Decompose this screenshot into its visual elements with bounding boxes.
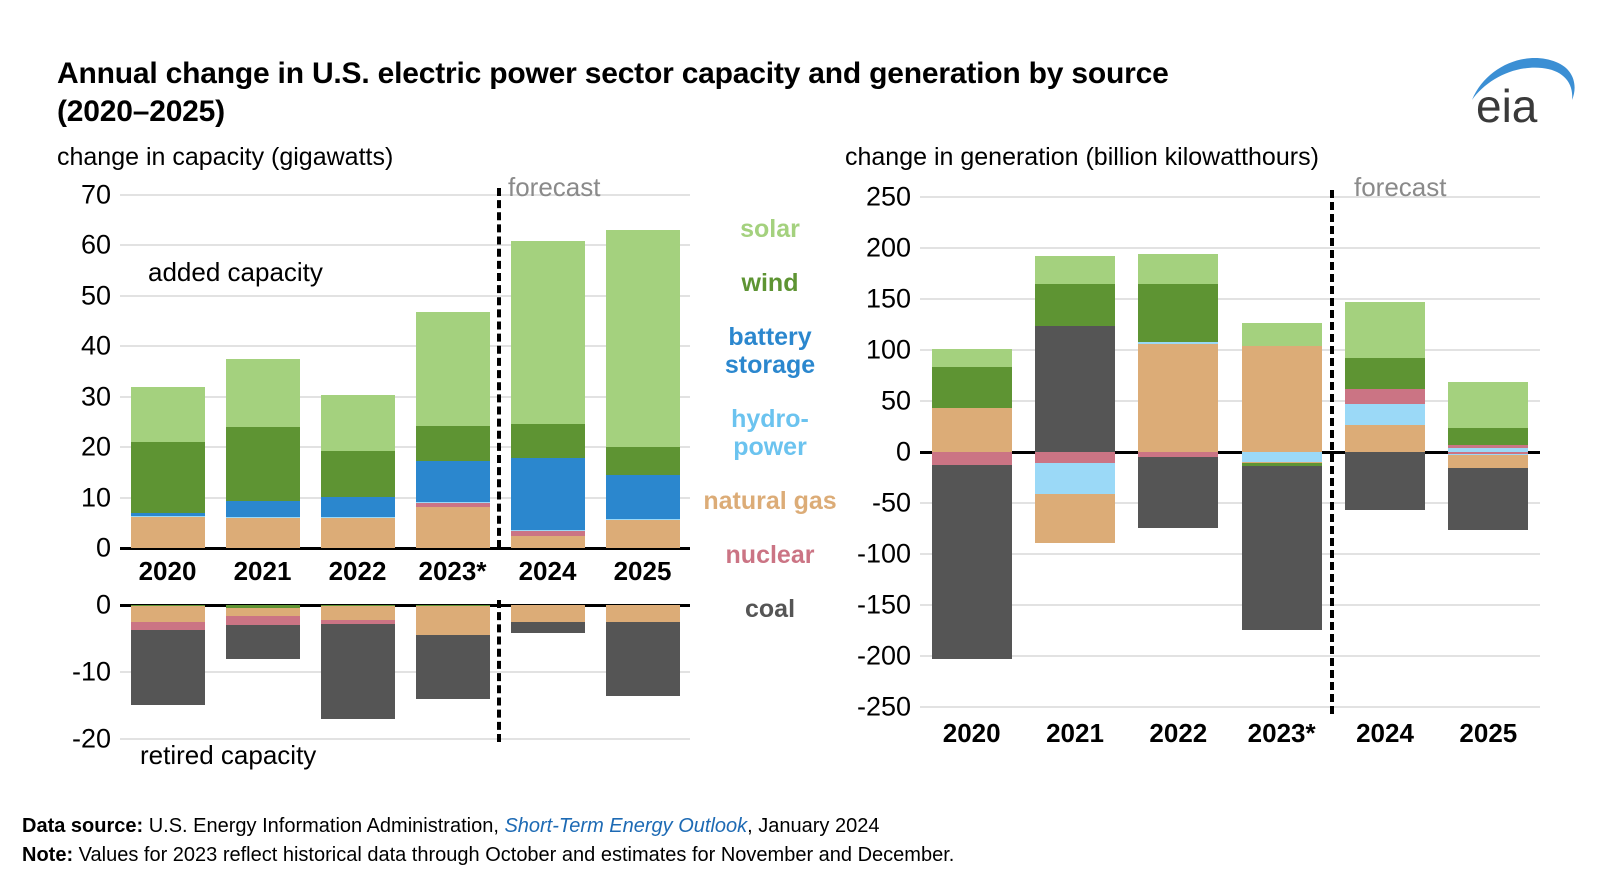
y-axis-tick-label: 0 <box>96 590 111 621</box>
footer-note-line: Note: Values for 2023 reflect historical… <box>22 841 1562 870</box>
y-axis-tick-label: -50 <box>872 488 911 519</box>
bar-segment-wind <box>511 424 585 458</box>
generation-bar-negative[interactable] <box>1138 452 1218 529</box>
generation-bar-positive[interactable] <box>1345 292 1425 452</box>
x-axis-tick-label: 2022 <box>313 556 403 587</box>
capacity-positive-plot: 706050403020100 <box>120 195 690 548</box>
generation-bar-positive[interactable] <box>1035 256 1115 452</box>
gridline <box>120 345 690 347</box>
bar-segment-coal <box>511 622 585 633</box>
bar-segment-wind <box>131 442 205 514</box>
y-axis-tick-label: 10 <box>81 482 111 513</box>
footer-source-tail: , January 2024 <box>747 815 879 837</box>
bar-segment-natural-gas <box>1448 455 1528 468</box>
footer: Data source: U.S. Energy Information Adm… <box>22 812 1562 870</box>
bar-segment-wind <box>606 447 680 476</box>
bar-segment-natural-gas <box>1345 425 1425 452</box>
footer-source-text: U.S. Energy Information Administration, <box>143 815 504 837</box>
bar-segment-hydropower <box>131 516 205 517</box>
y-axis-tick-label: -150 <box>857 590 911 621</box>
x-axis-tick-label: 2020 <box>123 556 213 587</box>
generation-zero-line <box>920 451 1540 454</box>
x-axis-tick-label: 2020 <box>922 718 1022 749</box>
generation-axis-title: change in generation (billion kilowattho… <box>845 143 1319 172</box>
y-axis-tick-label: -100 <box>857 539 911 570</box>
x-axis-tick-label: 2021 <box>218 556 308 587</box>
bar-segment-hydropower <box>226 517 300 518</box>
bar-segment-wind <box>1345 358 1425 389</box>
bar-segment-natural-gas <box>606 520 680 548</box>
svg-text:eia: eia <box>1476 80 1538 132</box>
y-axis-tick-label: 100 <box>866 335 911 366</box>
gridline <box>920 247 1540 249</box>
gridline <box>920 349 1540 351</box>
bar-segment-natural-gas <box>226 517 300 548</box>
capacity-retired-bar[interactable] <box>321 605 395 719</box>
generation-bar-negative[interactable] <box>932 452 1012 668</box>
bar-segment-nuclear <box>932 452 1012 465</box>
bar-segment-hydropower <box>606 519 680 520</box>
footer-source-label: Data source: <box>22 815 143 837</box>
added-capacity-label: added capacity <box>148 257 323 288</box>
y-axis-tick-label: 150 <box>866 284 911 315</box>
capacity-retired-bar[interactable] <box>606 605 680 696</box>
footer-source-line: Data source: U.S. Energy Information Adm… <box>22 812 1562 841</box>
bar-segment-natural-gas <box>131 606 205 621</box>
bar-segment-natural-gas <box>1138 344 1218 452</box>
y-axis-tick-label: 50 <box>81 280 111 311</box>
generation-bar-negative[interactable] <box>1345 452 1425 510</box>
bar-segment-solar <box>1035 256 1115 284</box>
bar-segment-wind <box>1138 284 1218 342</box>
bar-segment-coal <box>1035 326 1115 452</box>
capacity-retired-bar[interactable] <box>226 605 300 659</box>
page-title: Annual change in U.S. electric power sec… <box>57 55 1237 132</box>
capacity-bar[interactable] <box>321 395 395 548</box>
y-axis-tick-label: 50 <box>881 386 911 417</box>
bar-segment-nuclear <box>131 622 205 630</box>
legend-item-wind[interactable]: wind <box>700 269 840 297</box>
bar-segment-wind <box>416 426 490 461</box>
generation-bar-positive[interactable] <box>1138 254 1218 452</box>
footer-source-link[interactable]: Short-Term Energy Outlook <box>504 815 747 837</box>
x-axis-tick-label: 2023* <box>408 556 498 587</box>
y-axis-tick-label: 0 <box>96 533 111 564</box>
bar-segment-solar <box>606 230 680 447</box>
capacity-axis-title: change in capacity (gigawatts) <box>57 143 393 172</box>
x-axis-tick-label: 2024 <box>1335 718 1435 749</box>
generation-bar-negative[interactable] <box>1035 452 1115 543</box>
bar-segment-battery-storage <box>226 501 300 517</box>
capacity-bar[interactable] <box>511 241 585 548</box>
legend-item-natural-gas[interactable]: natural gas <box>700 487 840 515</box>
bar-segment-natural-gas <box>321 517 395 548</box>
bar-segment-nuclear <box>1448 445 1528 448</box>
gridline <box>920 298 1540 300</box>
bar-segment-wind <box>932 367 1012 408</box>
bar-segment-nuclear <box>416 503 490 508</box>
bar-segment-natural-gas <box>321 606 395 619</box>
bar-segment-hydropower <box>1035 463 1115 494</box>
bar-segment-natural-gas <box>932 408 1012 452</box>
x-axis-tick-label: 2023* <box>1232 718 1332 749</box>
retired-capacity-label: retired capacity <box>140 740 316 771</box>
footer-note-text: Values for 2023 reflect historical data … <box>73 844 954 866</box>
bar-segment-battery-storage <box>131 513 205 516</box>
bar-segment-natural-gas <box>226 608 300 617</box>
bar-segment-hydropower <box>416 502 490 503</box>
capacity-bar[interactable] <box>416 306 490 548</box>
legend-item-hydropower[interactable]: hydro- power <box>700 405 840 461</box>
x-axis-tick-label: 2025 <box>598 556 688 587</box>
bar-segment-coal <box>131 630 205 706</box>
eia-logo: eia <box>1462 46 1582 132</box>
gridline <box>120 497 690 499</box>
y-axis-tick-label: 20 <box>81 432 111 463</box>
bar-segment-hydropower <box>1138 342 1218 344</box>
generation-bar-negative[interactable] <box>1448 452 1528 529</box>
bar-segment-wind <box>321 451 395 497</box>
gridline <box>120 244 690 246</box>
y-axis-tick-label: -200 <box>857 641 911 672</box>
capacity-zero-line <box>120 547 690 550</box>
capacity-bar[interactable] <box>131 387 205 548</box>
bar-segment-solar <box>226 359 300 427</box>
generation-bar-positive[interactable] <box>1448 366 1528 452</box>
capacity-retired-bar[interactable] <box>131 605 205 706</box>
capacity-forecast-divider-bottom <box>497 600 501 742</box>
generation-forecast-label: forecast <box>1354 172 1447 203</box>
bar-segment-wind <box>226 427 300 501</box>
legend-item-nuclear[interactable]: nuclear <box>700 541 840 569</box>
bar-segment-nuclear <box>511 531 585 536</box>
bar-segment-hydropower <box>321 517 395 518</box>
bar-segment-coal <box>1448 468 1528 529</box>
bar-segment-solar <box>131 387 205 442</box>
gridline <box>920 553 1540 555</box>
legend-item-battery-storage[interactable]: battery storage <box>700 323 840 379</box>
bar-segment-natural-gas <box>511 536 585 548</box>
y-axis-tick-label: -10 <box>72 657 111 688</box>
y-axis-tick-label: 250 <box>866 182 911 213</box>
y-axis-tick-label: -20 <box>72 724 111 755</box>
bar-segment-natural-gas <box>1242 346 1322 452</box>
bar-segment-wind <box>1448 428 1528 445</box>
bar-segment-hydropower <box>511 530 585 531</box>
bar-segment-solar <box>1345 302 1425 358</box>
gridline <box>120 446 690 448</box>
bar-segment-solar <box>932 349 1012 367</box>
bar-segment-coal <box>416 635 490 699</box>
bar-segment-battery-storage <box>606 475 680 519</box>
capacity-forecast-label: forecast <box>508 172 601 203</box>
bar-segment-nuclear <box>1035 452 1115 463</box>
bar-segment-natural-gas <box>131 517 205 548</box>
generation-plot: 250200150100500-50-100-150-200-250 <box>920 197 1540 707</box>
bar-segment-nuclear <box>226 616 300 625</box>
bar-segment-coal <box>1242 466 1322 630</box>
gridline <box>920 604 1540 606</box>
capacity-zero-line-negative <box>120 604 690 607</box>
x-axis-tick-label: 2025 <box>1438 718 1538 749</box>
bar-segment-solar <box>1242 323 1322 345</box>
y-axis-tick-label: 70 <box>81 180 111 211</box>
capacity-bar[interactable] <box>606 230 680 548</box>
y-axis-tick-label: -250 <box>857 692 911 723</box>
gridline <box>920 196 1540 198</box>
x-axis-tick-label: 2021 <box>1025 718 1125 749</box>
generation-bar-positive[interactable] <box>1242 323 1322 452</box>
bar-segment-coal <box>321 624 395 718</box>
gridline <box>120 295 690 297</box>
legend-item-coal[interactable]: coal <box>700 595 840 623</box>
x-axis-tick-label: 2022 <box>1128 718 1228 749</box>
bar-segment-solar <box>1448 382 1528 428</box>
bar-segment-coal <box>1345 452 1425 510</box>
bar-segment-solar <box>1138 254 1218 284</box>
capacity-bar[interactable] <box>226 359 300 548</box>
bar-segment-coal <box>1138 457 1218 528</box>
gridline <box>120 396 690 398</box>
bar-segment-solar <box>511 241 585 425</box>
bar-segment-battery-storage <box>416 461 490 502</box>
capacity-forecast-divider-top <box>497 188 501 548</box>
gridline <box>920 706 1540 708</box>
bar-segment-natural-gas <box>1035 494 1115 543</box>
gridline <box>920 655 1540 657</box>
generation-bar-negative[interactable] <box>1242 452 1322 631</box>
footer-note-label: Note: <box>22 844 73 866</box>
gridline <box>120 671 690 673</box>
capacity-negative-plot: 0-10-20 <box>120 605 690 739</box>
bar-segment-hydropower <box>1242 452 1322 462</box>
bar-segment-natural-gas <box>511 605 585 622</box>
capacity-retired-bar[interactable] <box>511 605 585 633</box>
gridline <box>920 400 1540 402</box>
bar-segment-hydropower <box>1345 404 1425 425</box>
generation-bar-positive[interactable] <box>932 349 1012 452</box>
bar-segment-solar <box>416 312 490 426</box>
bar-segment-natural-gas <box>606 605 680 622</box>
capacity-retired-bar[interactable] <box>416 605 490 699</box>
y-axis-tick-label: 0 <box>896 437 911 468</box>
legend: solar wind battery storage hydro- power … <box>700 215 840 623</box>
bar-segment-coal <box>226 625 300 659</box>
bar-segment-coal <box>606 622 680 696</box>
bar-segment-battery-storage <box>511 458 585 530</box>
x-axis-tick-label: 2024 <box>503 556 593 587</box>
bar-segment-nuclear <box>1345 389 1425 404</box>
y-axis-tick-label: 30 <box>81 381 111 412</box>
gridline <box>920 502 1540 504</box>
generation-forecast-divider <box>1330 190 1334 714</box>
bar-segment-natural-gas <box>416 606 490 635</box>
gridline <box>120 194 690 196</box>
bar-segment-coal <box>932 465 1012 659</box>
bar-segment-wind <box>1035 284 1115 326</box>
y-axis-tick-label: 60 <box>81 230 111 261</box>
bar-segment-solar <box>321 395 395 451</box>
bar-segment-battery-storage <box>321 497 395 517</box>
y-axis-tick-label: 200 <box>866 233 911 264</box>
legend-item-solar[interactable]: solar <box>700 215 840 243</box>
y-axis-tick-label: 40 <box>81 331 111 362</box>
bar-segment-natural-gas <box>416 507 490 548</box>
